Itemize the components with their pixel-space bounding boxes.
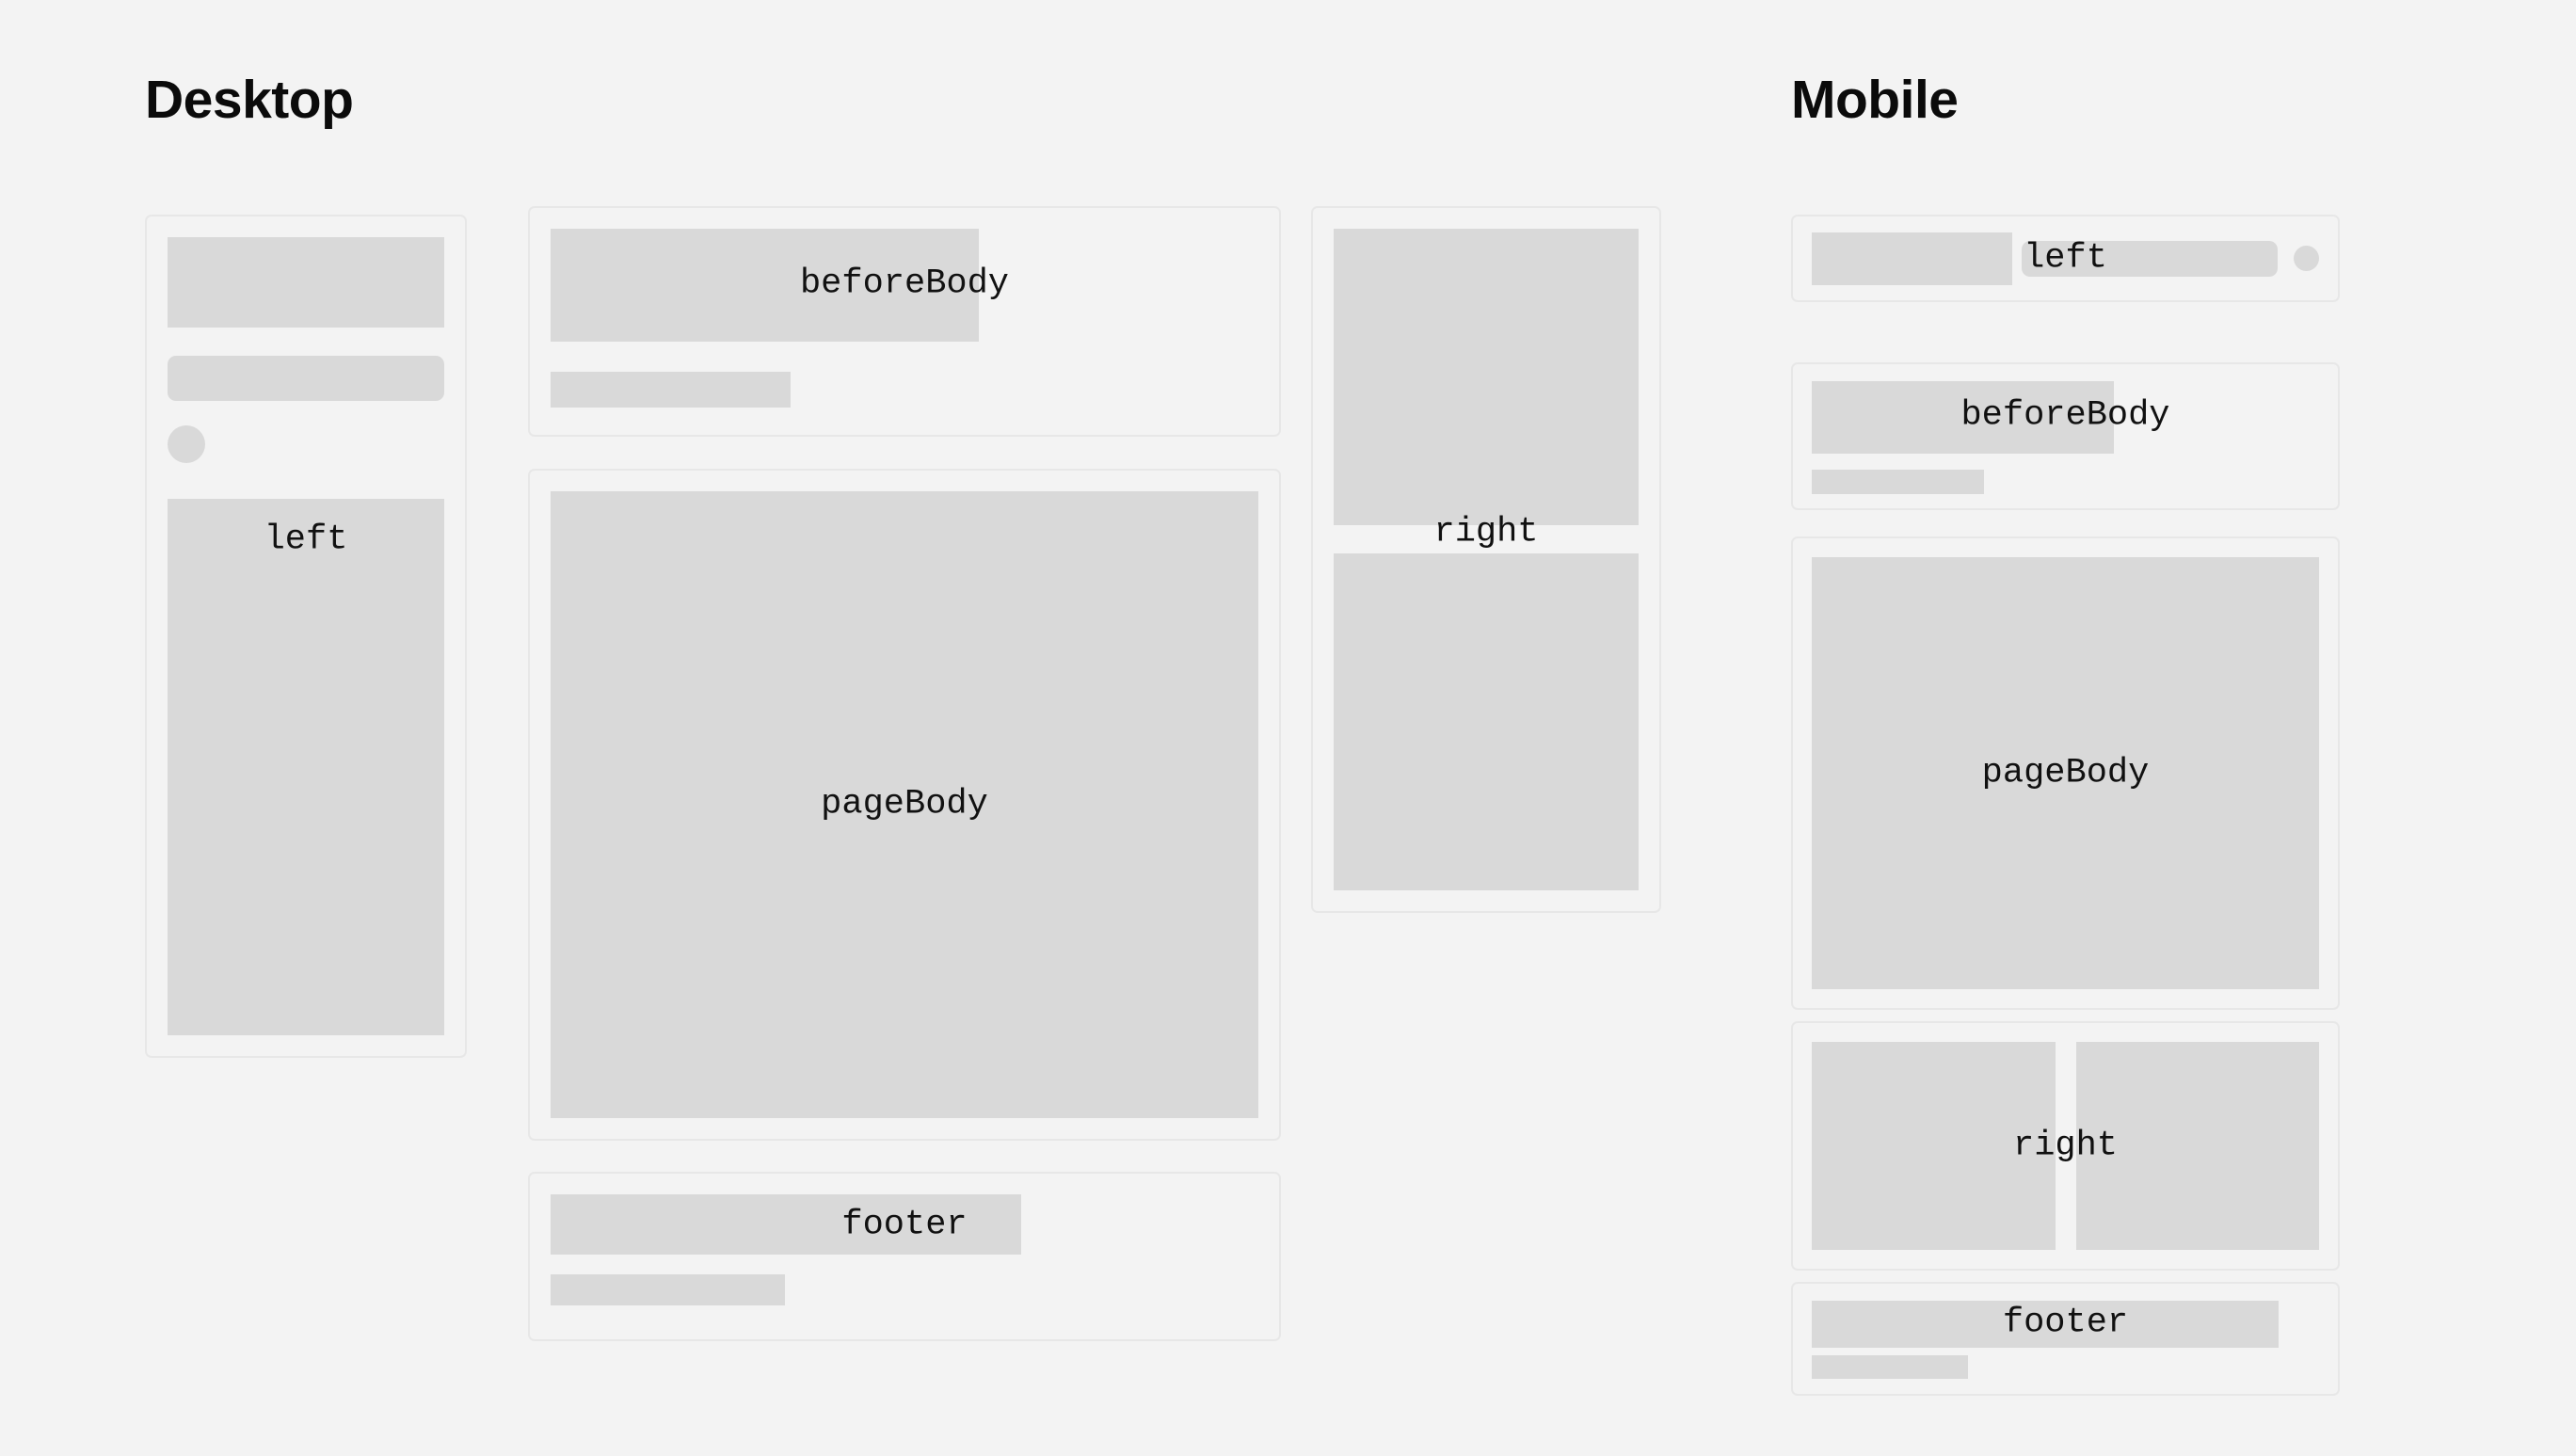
placeholder-bar [2022, 241, 2278, 277]
placeholder-block [1334, 229, 1639, 525]
section-title-mobile: Mobile [1791, 73, 1959, 127]
desktop-pagebody-slot-panel[interactable]: pageBody [528, 469, 1281, 1141]
mobile-beforebody-slot-content: beforeBody [1812, 381, 2319, 491]
placeholder-bar [1812, 470, 1984, 494]
placeholder-avatar-circle [2294, 246, 2319, 271]
placeholder-block [551, 229, 979, 342]
placeholder-block [1812, 381, 2114, 454]
desktop-beforebody-slot-content: beforeBody [551, 229, 1258, 414]
mobile-right-slot-panel[interactable]: right [1791, 1021, 2340, 1271]
mobile-left-slot-panel[interactable]: left [1791, 215, 2340, 302]
mobile-right-slot-content: right [1812, 1042, 2319, 1250]
placeholder-block [1812, 1042, 2056, 1250]
placeholder-bar [1812, 1355, 1968, 1379]
mobile-footer-slot-panel[interactable]: footer [1791, 1282, 2340, 1396]
placeholder-block [1812, 232, 2012, 285]
section-title-desktop: Desktop [145, 73, 353, 127]
desktop-right-slot-content: right [1334, 229, 1639, 890]
desktop-footer-slot-panel[interactable]: footer [528, 1172, 1281, 1341]
mobile-beforebody-slot-panel[interactable]: beforeBody [1791, 362, 2340, 510]
placeholder-block [1334, 553, 1639, 890]
wireframe-canvas: Desktop left beforeBody pageBody right [0, 0, 2576, 1456]
placeholder-block [1812, 1301, 2279, 1348]
placeholder-block [2076, 1042, 2320, 1250]
desktop-right-slot-panel[interactable]: right [1311, 206, 1661, 913]
placeholder-block [551, 1194, 1021, 1255]
desktop-beforebody-slot-panel[interactable]: beforeBody [528, 206, 1281, 437]
desktop-footer-slot-content: footer [551, 1194, 1258, 1319]
mobile-footer-slot-content: footer [1812, 1301, 2319, 1377]
mobile-pagebody-slot-panel[interactable]: pageBody [1791, 536, 2340, 1010]
mobile-pagebody-slot-content: pageBody [1812, 557, 2319, 989]
desktop-left-slot-content: left [168, 237, 444, 1035]
placeholder-block [168, 237, 444, 328]
placeholder-bar [551, 372, 791, 408]
placeholder-block [168, 499, 444, 1035]
placeholder-avatar-circle [168, 425, 205, 463]
desktop-pagebody-slot-content: pageBody [551, 491, 1258, 1118]
mobile-left-slot-content: left [1812, 232, 2319, 284]
placeholder-block [551, 491, 1258, 1118]
placeholder-bar [551, 1274, 785, 1305]
placeholder-block [1812, 557, 2319, 989]
placeholder-bar [168, 356, 444, 401]
desktop-left-slot-panel[interactable]: left [145, 215, 467, 1058]
